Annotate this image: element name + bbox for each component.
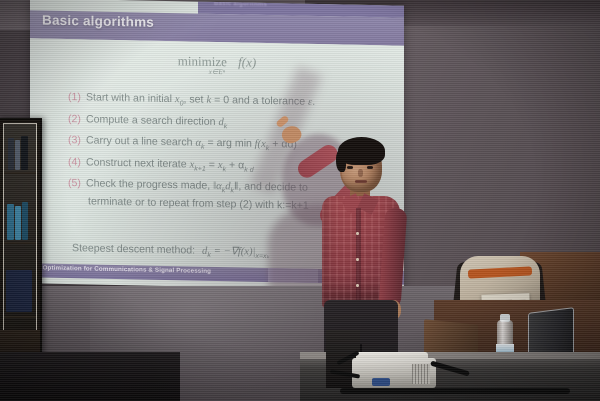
- book: [15, 206, 21, 240]
- projector-vga-port: [372, 378, 390, 386]
- bookcase-shelf: [4, 242, 36, 244]
- steepest-descent-label: Steepest descent method:: [72, 242, 195, 256]
- step-2-number: (2): [68, 113, 81, 125]
- lecture-photo-scene: Basic algorithms Basic algorithms minimi…: [0, 0, 600, 401]
- presenter-eye: [347, 166, 353, 169]
- book: [15, 140, 20, 170]
- steepest-descent-rhs: = −∇f(x)|: [214, 246, 256, 258]
- presenter-forearm: [294, 142, 341, 182]
- presenter-eye: [367, 166, 373, 169]
- step-1: (1) Start with an initial x0, set k = 0 …: [68, 91, 398, 112]
- book: [6, 270, 32, 312]
- book: [22, 202, 28, 240]
- bookcase-shelf: [4, 172, 36, 174]
- previous-slide-title: Basic algorithms: [214, 1, 267, 8]
- step-1-number: (1): [68, 91, 81, 103]
- steepest-descent-line: Steepest descent method: dk = −∇f(x)|x=x…: [72, 242, 270, 260]
- objective-function: f(x): [238, 54, 256, 69]
- bookcase-shelf: [4, 316, 36, 318]
- shirt-button: [356, 232, 359, 235]
- book: [21, 136, 28, 170]
- presenter-hair-side: [336, 150, 346, 172]
- cable: [340, 388, 570, 394]
- projector-vent: [412, 364, 430, 384]
- objective-formula: minimize f(x) x∈Eⁿ: [30, 50, 404, 80]
- book: [7, 204, 14, 240]
- step-2-text: Compute a search direction dk: [86, 113, 227, 130]
- step-5-number: (5): [68, 177, 81, 189]
- shirt-button: [356, 258, 359, 261]
- presenter-mouth: [355, 180, 367, 183]
- step-4-text: Construct next iterate xk+1 = xk + αk d: [86, 156, 254, 173]
- step-4-number: (4): [68, 156, 81, 168]
- minimize-operator: minimize: [178, 53, 227, 69]
- book: [8, 138, 14, 170]
- presenter-shirt-placket: [356, 208, 361, 304]
- shirt-button: [356, 284, 359, 287]
- presenter-nose: [358, 169, 363, 177]
- foreground-dark-area: [0, 352, 180, 401]
- step-3-number: (3): [68, 134, 81, 146]
- slide-title: Basic algorithms: [42, 12, 154, 29]
